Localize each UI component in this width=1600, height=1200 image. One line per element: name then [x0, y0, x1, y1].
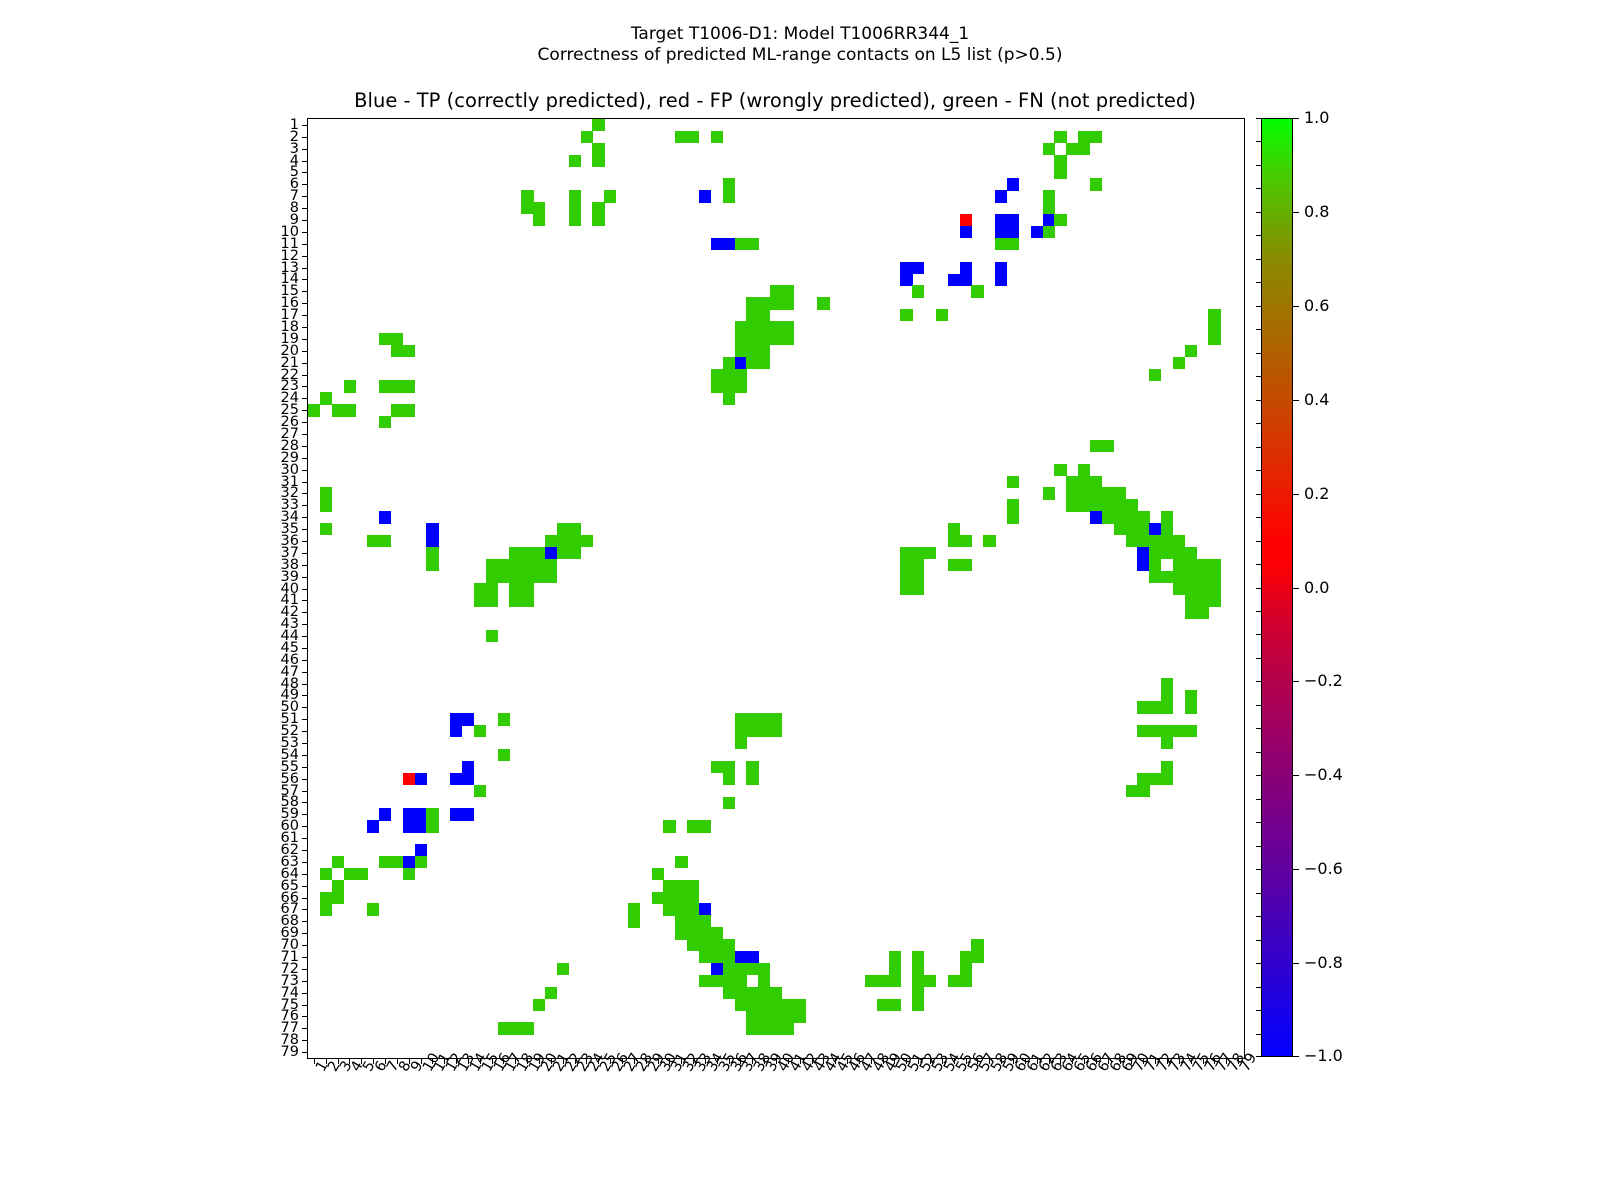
contact-cell: [711, 761, 723, 773]
y-tick-mark: [302, 993, 308, 994]
contact-cell: [770, 987, 782, 999]
contact-cell: [1054, 464, 1066, 476]
contact-cell: [1043, 190, 1055, 202]
y-tick-mark: [302, 279, 308, 280]
contact-cell: [877, 975, 889, 987]
contact-cell: [971, 285, 983, 297]
y-tick-mark: [302, 814, 308, 815]
contact-cell: [699, 975, 711, 987]
contact-cell: [498, 749, 510, 761]
contact-cell: [581, 131, 593, 143]
contact-cell: [687, 880, 699, 892]
contact-cell: [1137, 725, 1149, 737]
contact-cell: [1031, 226, 1043, 238]
contact-cell: [1173, 357, 1185, 369]
contact-cell: [1007, 178, 1019, 190]
colorbar-minor-tick-mark: [1256, 799, 1261, 800]
contact-cell: [711, 380, 723, 392]
contact-cell: [320, 523, 332, 535]
colorbar-minor-tick-mark: [1256, 822, 1261, 823]
contact-cell: [391, 345, 403, 357]
contact-cell: [699, 903, 711, 915]
contact-cell: [687, 892, 699, 904]
contact-cell: [770, 999, 782, 1011]
contact-cell: [462, 773, 474, 785]
contact-cell: [735, 725, 747, 737]
contact-cell: [758, 1022, 770, 1034]
contact-cell: [782, 321, 794, 333]
contact-cell: [865, 975, 877, 987]
contact-cell: [462, 713, 474, 725]
colorbar-minor-tick-mark: [1256, 963, 1261, 964]
contact-cell: [1197, 606, 1209, 618]
contact-cell: [711, 131, 723, 143]
contact-cell: [1066, 499, 1078, 511]
contact-cell: [1007, 499, 1019, 511]
colorbar-minor-tick-mark: [1256, 611, 1261, 612]
colorbar-minor-tick-mark: [1256, 869, 1261, 870]
contact-cell: [1173, 535, 1185, 547]
contact-cell: [1054, 155, 1066, 167]
contact-cell: [426, 559, 438, 571]
contact-cell: [770, 713, 782, 725]
contact-cell: [912, 999, 924, 1011]
contact-cell: [1137, 547, 1149, 559]
y-tick-mark: [302, 826, 308, 827]
contact-cell: [1054, 167, 1066, 179]
y-tick-mark: [302, 553, 308, 554]
contact-cell: [971, 939, 983, 951]
colorbar-minor-tick-mark: [1256, 423, 1261, 424]
contact-cell: [1208, 333, 1220, 345]
contact-cell: [557, 963, 569, 975]
contact-cell: [912, 987, 924, 999]
colorbar-minor-tick-mark: [1256, 634, 1261, 635]
contact-cell: [1149, 559, 1161, 571]
contact-cell: [1114, 523, 1126, 535]
y-tick-mark: [302, 386, 308, 387]
contact-cell: [581, 535, 593, 547]
contact-cell: [1208, 583, 1220, 595]
y-tick-mark: [302, 256, 308, 257]
axes-title-legend: Blue - TP (correctly predicted), red - F…: [307, 89, 1243, 112]
contact-cell: [735, 737, 747, 749]
contact-cell: [498, 1022, 510, 1034]
contact-cell: [711, 927, 723, 939]
contact-cell: [699, 939, 711, 951]
contact-cell: [1114, 499, 1126, 511]
contact-cell: [1149, 535, 1161, 547]
contact-cell: [782, 285, 794, 297]
contact-cell: [1208, 559, 1220, 571]
contact-cell: [1161, 678, 1173, 690]
contact-cell: [415, 844, 427, 856]
contact-cell: [817, 297, 829, 309]
contact-cell: [1043, 214, 1055, 226]
contact-cell: [900, 571, 912, 583]
colorbar-minor-tick-mark: [1256, 165, 1261, 166]
colorbar-tick-mark: [1293, 775, 1299, 776]
contact-cell: [1208, 309, 1220, 321]
y-tick-mark: [302, 541, 308, 542]
colorbar-tick-label: 1.0: [1304, 110, 1329, 126]
contact-cell: [521, 583, 533, 595]
y-tick-mark: [302, 1052, 308, 1053]
y-tick-mark: [302, 707, 308, 708]
contact-cell: [900, 274, 912, 286]
contact-cell: [379, 535, 391, 547]
contact-cell: [1137, 523, 1149, 535]
contact-cell: [889, 975, 901, 987]
contact-cell: [794, 999, 806, 1011]
contact-cell: [545, 547, 557, 559]
contact-cell: [592, 119, 604, 131]
contact-cell: [1126, 523, 1138, 535]
contact-cell: [1078, 143, 1090, 155]
contact-cell: [746, 297, 758, 309]
colorbar-minor-tick-mark: [1256, 1010, 1261, 1011]
y-tick-mark: [302, 363, 308, 364]
contact-cell: [912, 559, 924, 571]
contact-cell: [486, 559, 498, 571]
contact-cell: [699, 927, 711, 939]
contact-cell: [1114, 511, 1126, 523]
contact-cell: [995, 238, 1007, 250]
contact-cell: [960, 951, 972, 963]
colorbar-minor-tick-mark: [1256, 282, 1261, 283]
contact-cell: [983, 535, 995, 547]
contact-cell: [948, 535, 960, 547]
contact-cell: [782, 333, 794, 345]
contact-cell: [758, 321, 770, 333]
y-tick-mark: [302, 791, 308, 792]
contact-cell: [746, 238, 758, 250]
contact-cell: [758, 345, 770, 357]
colorbar-tick-mark: [1293, 118, 1299, 119]
y-tick-mark: [302, 339, 308, 340]
colorbar-minor-tick-mark: [1256, 118, 1261, 119]
contact-cell: [770, 333, 782, 345]
contact-cell: [521, 571, 533, 583]
y-tick-mark: [302, 208, 308, 209]
contact-cell: [746, 333, 758, 345]
contact-cell: [1161, 773, 1173, 785]
contact-cell: [723, 939, 735, 951]
contact-cell: [320, 487, 332, 499]
contact-cell: [960, 975, 972, 987]
contact-cell: [723, 238, 735, 250]
y-tick-mark: [302, 577, 308, 578]
y-tick-mark: [302, 612, 308, 613]
figure-suptitle-line-2: Correctness of predicted ML-range contac…: [0, 43, 1600, 67]
contact-cell: [1090, 487, 1102, 499]
contact-cell: [355, 868, 367, 880]
y-tick-mark: [302, 125, 308, 126]
contact-cell: [533, 571, 545, 583]
y-tick-mark: [302, 1028, 308, 1029]
contact-cell: [758, 1010, 770, 1022]
contact-cell: [592, 143, 604, 155]
colorbar-minor-tick-mark: [1256, 916, 1261, 917]
contact-cell: [960, 963, 972, 975]
colorbar-minor-tick-mark: [1256, 329, 1261, 330]
contact-cell: [1208, 594, 1220, 606]
contact-cell: [758, 963, 770, 975]
contact-cell: [1161, 523, 1173, 535]
colorbar-tick-mark: [1293, 963, 1299, 964]
contact-cell: [699, 915, 711, 927]
contact-cell: [675, 927, 687, 939]
y-tick-mark: [302, 268, 308, 269]
contact-cell: [746, 309, 758, 321]
y-tick-mark: [302, 410, 308, 411]
contact-cell: [1137, 773, 1149, 785]
colorbar-gradient: [1261, 118, 1293, 1057]
contact-cell: [391, 404, 403, 416]
contact-cell: [687, 820, 699, 832]
contact-cell: [474, 583, 486, 595]
contact-cell: [415, 856, 427, 868]
contact-cell: [367, 903, 379, 915]
contact-cell: [545, 571, 557, 583]
contact-cell: [735, 380, 747, 392]
contact-cell: [592, 202, 604, 214]
y-tick-mark: [302, 351, 308, 352]
contact-cell: [723, 797, 735, 809]
colorbar-minor-tick-mark: [1256, 705, 1261, 706]
contact-cell: [758, 725, 770, 737]
contact-cell: [735, 999, 747, 1011]
colorbar-tick-label: 0.4: [1304, 392, 1329, 408]
contact-cell: [1149, 701, 1161, 713]
contact-cell: [900, 309, 912, 321]
contact-cell: [509, 571, 521, 583]
contact-cell: [604, 190, 616, 202]
contact-cell: [794, 1010, 806, 1022]
contact-cell: [1161, 701, 1173, 713]
y-tick-mark: [302, 589, 308, 590]
contact-cell: [711, 963, 723, 975]
contact-cell: [545, 535, 557, 547]
contact-cell: [391, 856, 403, 868]
contact-cell: [533, 202, 545, 214]
contact-cell: [1090, 131, 1102, 143]
contact-cell: [960, 274, 972, 286]
contact-cell: [1066, 476, 1078, 488]
contact-cell: [1090, 440, 1102, 452]
colorbar-tick-label: −1.0: [1304, 1048, 1343, 1064]
contact-cell: [1197, 594, 1209, 606]
contact-cell: [592, 214, 604, 226]
contact-cell: [1185, 571, 1197, 583]
contact-cell: [332, 404, 344, 416]
y-tick-mark: [302, 1005, 308, 1006]
contact-map-cells: [308, 119, 1244, 1058]
contact-cell: [900, 559, 912, 571]
contact-cell: [1173, 571, 1185, 583]
contact-cell: [758, 357, 770, 369]
contact-cell: [1185, 701, 1197, 713]
y-tick-mark: [302, 600, 308, 601]
contact-cell: [403, 868, 415, 880]
y-tick-mark: [302, 1016, 308, 1017]
contact-cell: [1161, 535, 1173, 547]
contact-cell: [675, 856, 687, 868]
contact-cell: [486, 630, 498, 642]
contact-cell: [746, 761, 758, 773]
contact-cell: [426, 523, 438, 535]
y-tick-mark: [302, 933, 308, 934]
contact-cell: [1149, 571, 1161, 583]
contact-cell: [1054, 131, 1066, 143]
y-tick-mark: [302, 862, 308, 863]
colorbar-tick-mark: [1293, 306, 1299, 307]
contact-cell: [687, 903, 699, 915]
contact-cell: [948, 975, 960, 987]
contact-cell: [1066, 143, 1078, 155]
contact-cell: [521, 559, 533, 571]
contact-cell: [770, 1010, 782, 1022]
contact-cell: [1126, 785, 1138, 797]
contact-cell: [462, 761, 474, 773]
contact-cell: [1185, 559, 1197, 571]
contact-cell: [557, 535, 569, 547]
contact-cell: [1043, 143, 1055, 155]
contact-cell: [1161, 761, 1173, 773]
contact-cell: [960, 214, 972, 226]
contact-cell: [426, 547, 438, 559]
contact-cell: [746, 725, 758, 737]
contact-cell: [1173, 547, 1185, 559]
contact-cell: [1102, 440, 1114, 452]
contact-cell: [699, 190, 711, 202]
contact-cell: [1043, 487, 1055, 499]
contact-cell: [663, 903, 675, 915]
contact-cell: [521, 190, 533, 202]
contact-cell: [509, 583, 521, 595]
contact-cell: [711, 939, 723, 951]
contact-cell: [723, 357, 735, 369]
contact-cell: [344, 868, 356, 880]
contact-cell: [320, 892, 332, 904]
contact-cell: [735, 369, 747, 381]
contact-cell: [533, 547, 545, 559]
contact-cell: [758, 975, 770, 987]
contact-cell: [1054, 214, 1066, 226]
contact-cell: [1102, 499, 1114, 511]
contact-cell: [1185, 606, 1197, 618]
y-tick-mark: [302, 802, 308, 803]
contact-cell: [675, 903, 687, 915]
colorbar-tick-label: −0.2: [1304, 673, 1343, 689]
contact-cell: [1161, 737, 1173, 749]
contact-cell: [889, 999, 901, 1011]
contact-cell: [746, 1022, 758, 1034]
contact-cell: [1137, 701, 1149, 713]
colorbar-minor-tick-mark: [1256, 1056, 1261, 1057]
colorbar-tick-mark: [1293, 588, 1299, 589]
contact-cell: [474, 725, 486, 737]
contact-cell: [1185, 594, 1197, 606]
contact-cell: [948, 559, 960, 571]
contact-cell: [877, 999, 889, 1011]
y-tick-mark: [302, 945, 308, 946]
contact-cell: [1161, 725, 1173, 737]
colorbar-tick-label: −0.4: [1304, 767, 1343, 783]
contact-cell: [1090, 476, 1102, 488]
contact-cell: [533, 999, 545, 1011]
y-tick-mark: [302, 303, 308, 304]
figure-canvas: Target T1006-D1: Model T1006RR344_1 Corr…: [0, 0, 1600, 1200]
contact-cell: [332, 892, 344, 904]
contact-cell: [498, 571, 510, 583]
contact-cell: [711, 975, 723, 987]
y-tick-mark: [302, 755, 308, 756]
contact-cell: [675, 915, 687, 927]
colorbar-minor-tick-mark: [1256, 517, 1261, 518]
contact-cell: [1102, 511, 1114, 523]
y-tick-mark: [302, 220, 308, 221]
contact-cell: [1173, 559, 1185, 571]
contact-cell: [1197, 583, 1209, 595]
contact-cell: [746, 987, 758, 999]
contact-cell: [652, 868, 664, 880]
contact-cell: [900, 262, 912, 274]
contact-cell: [320, 392, 332, 404]
contact-cell: [723, 190, 735, 202]
contact-cell: [344, 380, 356, 392]
contact-cell: [533, 559, 545, 571]
contact-cell: [569, 547, 581, 559]
contact-cell: [1102, 487, 1114, 499]
contact-cell: [426, 808, 438, 820]
contact-cell: [1078, 476, 1090, 488]
contact-cell: [723, 951, 735, 963]
contact-cell: [403, 856, 415, 868]
contact-cell: [735, 333, 747, 345]
contact-cell: [426, 535, 438, 547]
y-tick-mark: [302, 196, 308, 197]
contact-cell: [735, 321, 747, 333]
contact-cell: [936, 309, 948, 321]
contact-cell: [628, 903, 640, 915]
contact-cell: [995, 262, 1007, 274]
contact-cell: [367, 535, 379, 547]
contact-cell: [1208, 571, 1220, 583]
contact-cell: [1007, 476, 1019, 488]
colorbar-minor-tick-mark: [1256, 940, 1261, 941]
contact-cell: [1090, 178, 1102, 190]
contact-cell: [1197, 559, 1209, 571]
colorbar-minor-tick-mark: [1256, 893, 1261, 894]
contact-cell: [521, 1022, 533, 1034]
contact-cell: [711, 369, 723, 381]
contact-cell: [960, 535, 972, 547]
contact-cell: [569, 523, 581, 535]
contact-cell: [675, 131, 687, 143]
contact-cell: [415, 820, 427, 832]
y-tick-mark: [302, 137, 308, 138]
colorbar-minor-tick-mark: [1256, 447, 1261, 448]
colorbar: 1.00.80.60.40.20.0−0.2−0.4−0.6−0.8−1.0: [1261, 118, 1293, 1057]
y-tick-mark: [302, 482, 308, 483]
contact-cell: [1078, 487, 1090, 499]
contact-cell: [1149, 369, 1161, 381]
contact-cell: [1090, 511, 1102, 523]
contact-cell: [723, 987, 735, 999]
colorbar-minor-tick-mark: [1256, 541, 1261, 542]
contact-cell: [545, 987, 557, 999]
